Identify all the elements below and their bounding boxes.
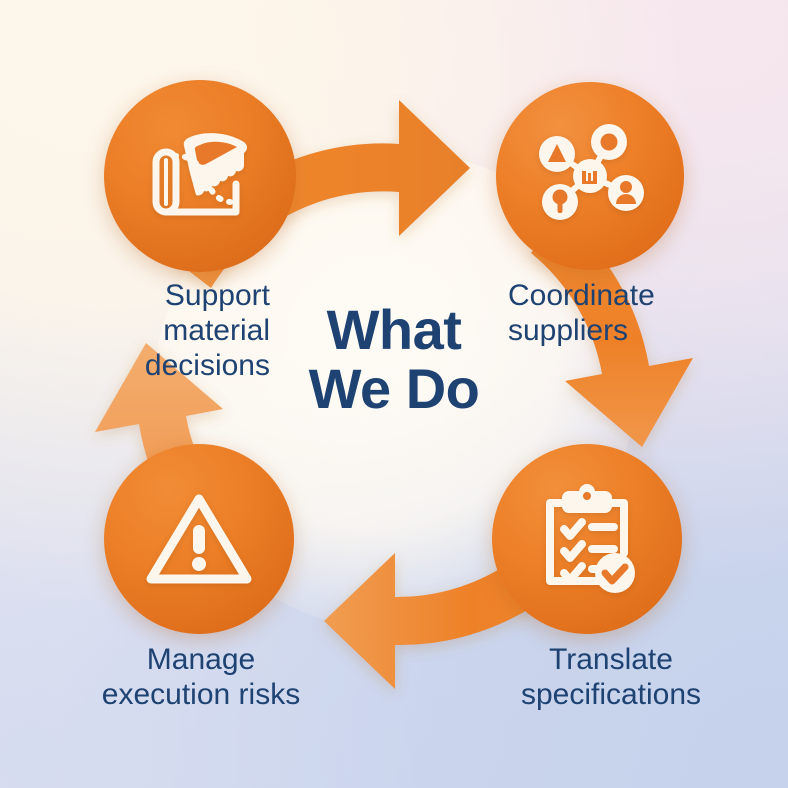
page-title: What We Do [254,300,534,419]
labels-layer: What We Do Support material decisions Co… [0,0,788,788]
label-line: Manage [72,642,330,677]
label-line: material [40,313,270,348]
label-manage-execution-risks: Manage execution risks [72,642,330,712]
label-line: execution risks [72,677,330,712]
label-coordinate-suppliers: Coordinate suppliers [508,278,758,348]
label-line: specifications [492,677,730,712]
infographic-canvas: What We Do Support material decisions Co… [0,0,788,788]
label-translate-specifications: Translate specifications [492,642,730,712]
label-line: Translate [492,642,730,677]
label-support-material-decisions: Support material decisions [40,278,270,383]
center-title-line2: We Do [254,359,534,418]
center-title-line1: What [327,298,462,361]
label-line: suppliers [508,313,758,348]
label-line: Coordinate [508,278,758,313]
label-line: Support [40,278,270,313]
label-line: decisions [40,348,270,383]
